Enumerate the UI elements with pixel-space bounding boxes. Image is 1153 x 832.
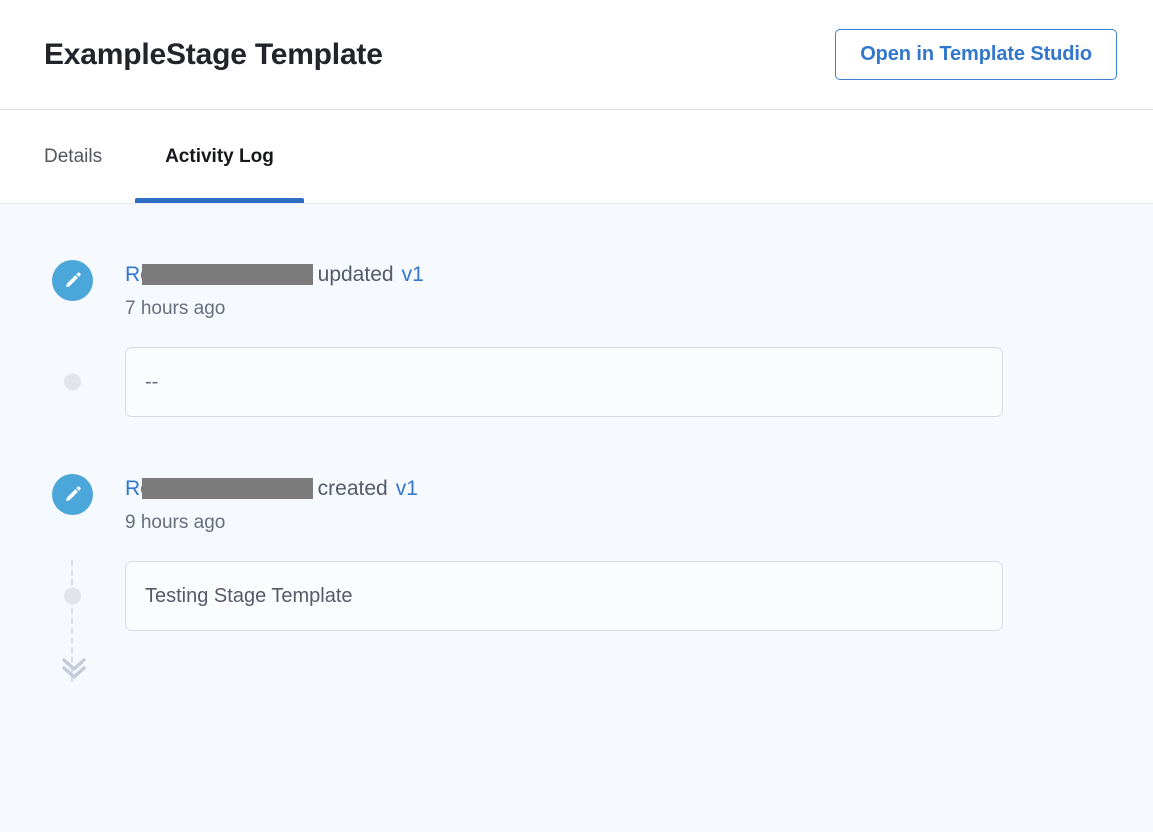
page-header: ExampleStage Template Open in Template S… <box>0 0 1153 110</box>
activity-entry-text: Redacted Redacted updated v1 7 hours ago <box>125 260 424 322</box>
activity-comment-box[interactable]: Testing Stage Template <box>125 561 1003 631</box>
activity-entry-summary: Redacted Redacted updated v1 <box>125 260 424 290</box>
activity-timeline: Redacted Redacted updated v1 7 hours ago… <box>0 260 1153 682</box>
action-word: updated <box>318 260 394 290</box>
activity-comment-box[interactable]: -- <box>125 347 1003 417</box>
tab-details[interactable]: Details <box>44 110 135 203</box>
open-in-template-studio-button[interactable]: Open in Template Studio <box>835 29 1117 80</box>
version-link[interactable]: v1 <box>396 474 418 504</box>
pencil-icon <box>52 474 93 515</box>
timeline-dot <box>64 588 81 605</box>
activity-timestamp: 9 hours ago <box>125 510 418 536</box>
entry-spacer <box>52 418 1153 474</box>
chevron-double-down-icon[interactable] <box>60 654 88 682</box>
page-title: ExampleStage Template <box>44 38 835 71</box>
activity-entry-body: -- <box>52 346 1153 418</box>
actor-name-link[interactable]: Redacted Redacted <box>125 477 311 500</box>
timeline-dot <box>64 374 81 391</box>
actor-name-wrapper: Redacted Redacted <box>125 474 311 504</box>
activity-log-panel: Redacted Redacted updated v1 7 hours ago… <box>0 204 1153 832</box>
actor-name-wrapper: Redacted Redacted <box>125 260 311 290</box>
activity-timestamp: 7 hours ago <box>125 296 424 322</box>
activity-entry: Redacted Redacted created v1 9 hours ago… <box>52 474 1153 632</box>
version-link[interactable]: v1 <box>402 260 424 290</box>
action-word: created <box>318 474 388 504</box>
tab-bar: Details Activity Log <box>0 110 1153 204</box>
tab-activity-log[interactable]: Activity Log <box>135 110 304 203</box>
activity-entry-header: Redacted Redacted created v1 9 hours ago <box>52 474 1153 536</box>
activity-entry-summary: Redacted Redacted created v1 <box>125 474 418 504</box>
activity-entry-text: Redacted Redacted created v1 9 hours ago <box>125 474 418 536</box>
actor-name-link[interactable]: Redacted Redacted <box>125 263 311 286</box>
pencil-icon <box>52 260 93 301</box>
activity-entry: Redacted Redacted updated v1 7 hours ago… <box>52 260 1153 418</box>
activity-entry-header: Redacted Redacted updated v1 7 hours ago <box>52 260 1153 322</box>
activity-entry-body: Testing Stage Template <box>52 560 1153 632</box>
